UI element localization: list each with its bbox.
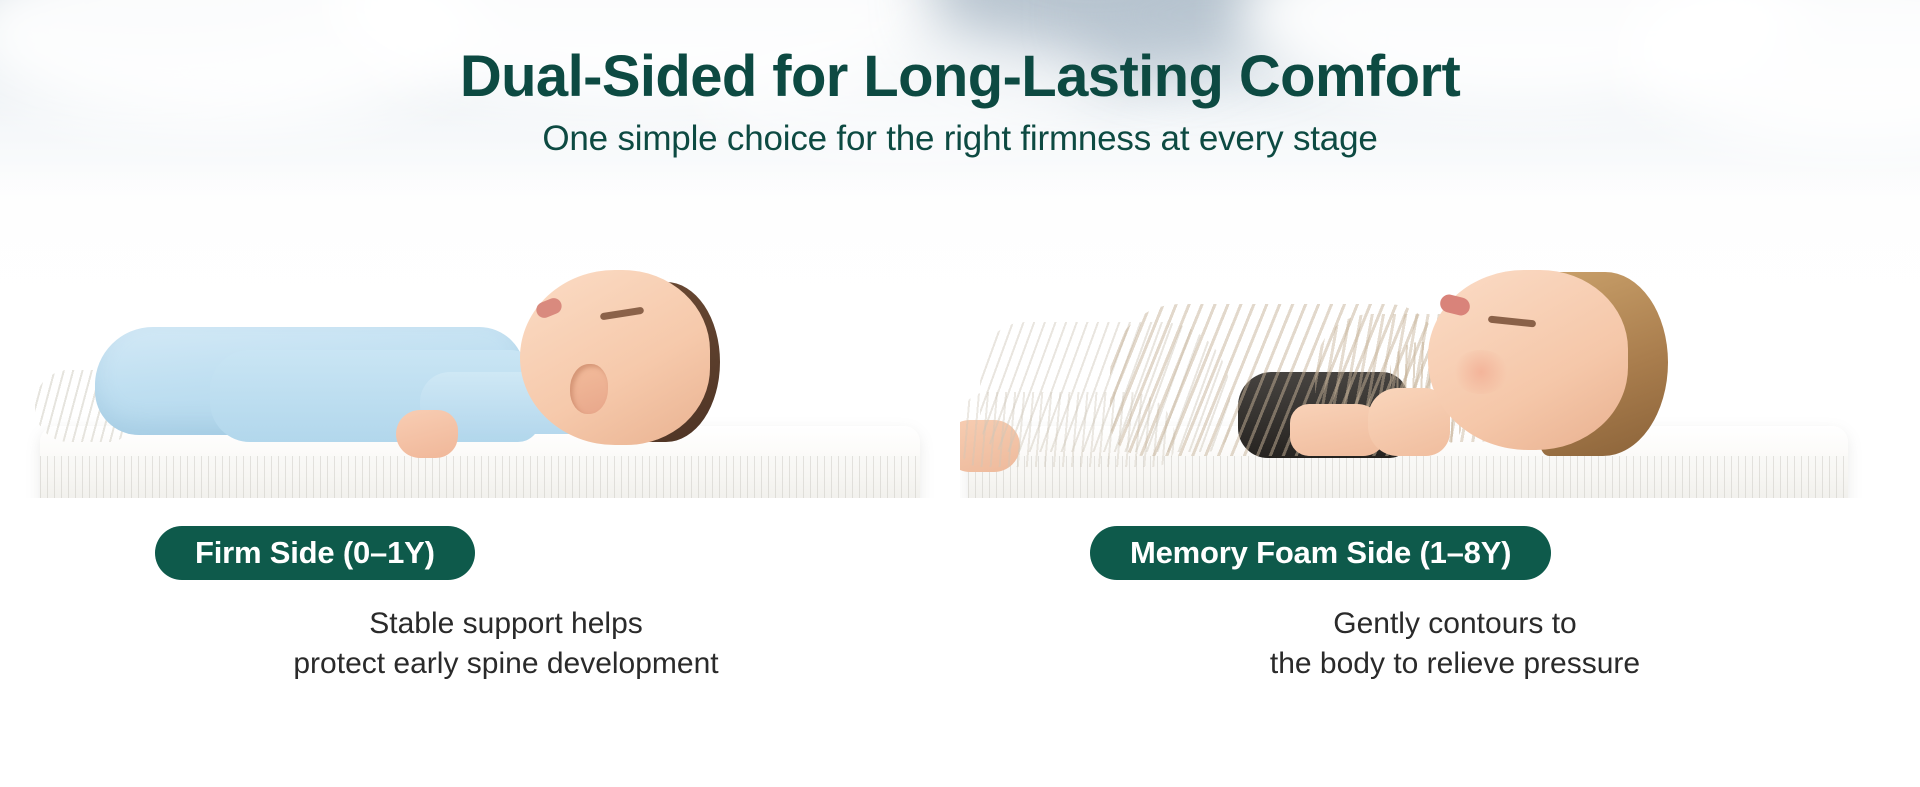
baby-head xyxy=(520,270,710,445)
photo-bottom-mask xyxy=(960,498,1920,522)
status-badge-label: Firm Side (0–1Y) xyxy=(195,535,435,571)
caption-line: protect early spine development xyxy=(52,644,960,684)
panel-memory-foam-side: Memory Foam Side (1–8Y) Gently contours … xyxy=(960,222,1920,787)
caption-line: the body to relieve pressure xyxy=(990,644,1920,684)
baby-ear xyxy=(570,364,608,414)
caption-line: Stable support helps xyxy=(52,604,960,644)
panel-firm-side: Firm Side (0–1Y) Stable support helps pr… xyxy=(0,222,960,787)
photo-bottom-mask xyxy=(0,498,960,522)
toddler-cheek xyxy=(1452,350,1510,394)
toddler-side-sleeping-memory-foam-photo xyxy=(960,222,1920,522)
caption-firm-side: Stable support helps protect early spine… xyxy=(0,604,960,684)
page-subtitle: One simple choice for the right firmness… xyxy=(0,119,1920,159)
baby-on-back-firm-mattress-photo xyxy=(0,222,960,522)
caption-line: Gently contours to xyxy=(990,604,1920,644)
baby-hand xyxy=(396,410,458,458)
heading-block: Dual-Sided for Long-Lasting Comfort One … xyxy=(0,46,1920,159)
dual-sided-comfort-banner: Dual-Sided for Long-Lasting Comfort One … xyxy=(0,0,1920,787)
status-badge-memory-foam-side: Memory Foam Side (1–8Y) xyxy=(1090,526,1551,580)
status-badge-firm-side: Firm Side (0–1Y) xyxy=(155,526,475,580)
page-title: Dual-Sided for Long-Lasting Comfort xyxy=(0,46,1920,109)
caption-memory-foam-side: Gently contours to the body to relieve p… xyxy=(960,604,1920,684)
status-badge-label: Memory Foam Side (1–8Y) xyxy=(1130,535,1511,571)
comparison-panels: Firm Side (0–1Y) Stable support helps pr… xyxy=(0,222,1920,787)
